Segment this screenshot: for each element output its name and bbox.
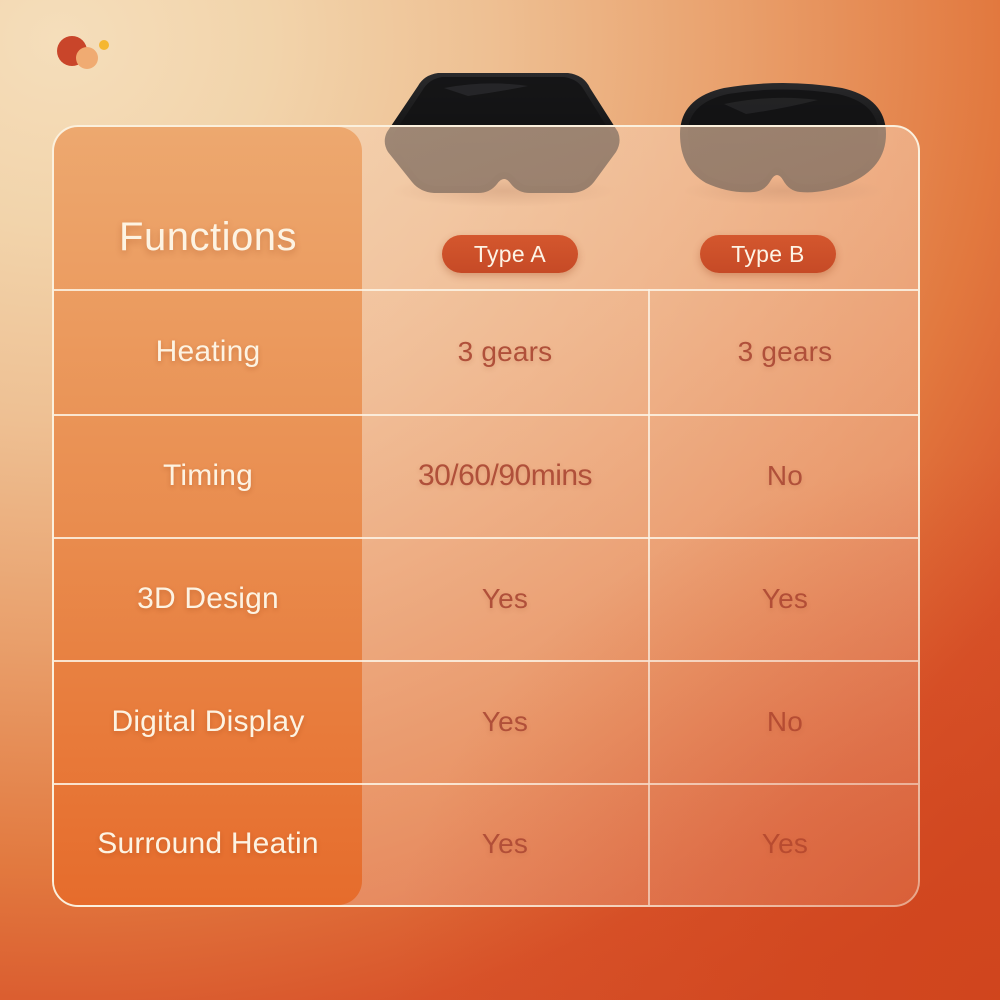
cell-type-b-3d-design: Yes: [648, 537, 922, 660]
cell-type-b-heating: 3 gears: [648, 289, 922, 414]
row-label-heating: Heating: [54, 289, 362, 414]
row-label-timing: Timing: [54, 414, 362, 537]
badge-type-a: Type A: [442, 235, 578, 273]
brand-logo: [55, 33, 125, 73]
logo-circle-medium: [76, 47, 98, 69]
cell-type-b-timing: No: [648, 414, 922, 537]
table-header-functions: Functions: [54, 185, 362, 289]
cell-type-b-digital-display: No: [648, 660, 922, 783]
cell-type-a-surround-heating: Yes: [362, 783, 648, 905]
badge-type-b: Type B: [700, 235, 836, 273]
cell-type-b-surround-heating: Yes: [648, 783, 922, 905]
row-label-surround-heating: Surround Heatin: [54, 783, 362, 905]
row-label-digital-display: Digital Display: [54, 660, 362, 783]
cell-type-a-digital-display: Yes: [362, 660, 648, 783]
cell-type-a-timing: 30/60/90mins: [362, 414, 648, 537]
cell-type-a-3d-design: Yes: [362, 537, 648, 660]
infographic-canvas: Functions Heating 3 gears 3 gears Timing…: [0, 0, 1000, 1000]
cell-type-a-heating: 3 gears: [362, 289, 648, 414]
logo-circle-small: [99, 40, 109, 50]
row-label-3d-design: 3D Design: [54, 537, 362, 660]
